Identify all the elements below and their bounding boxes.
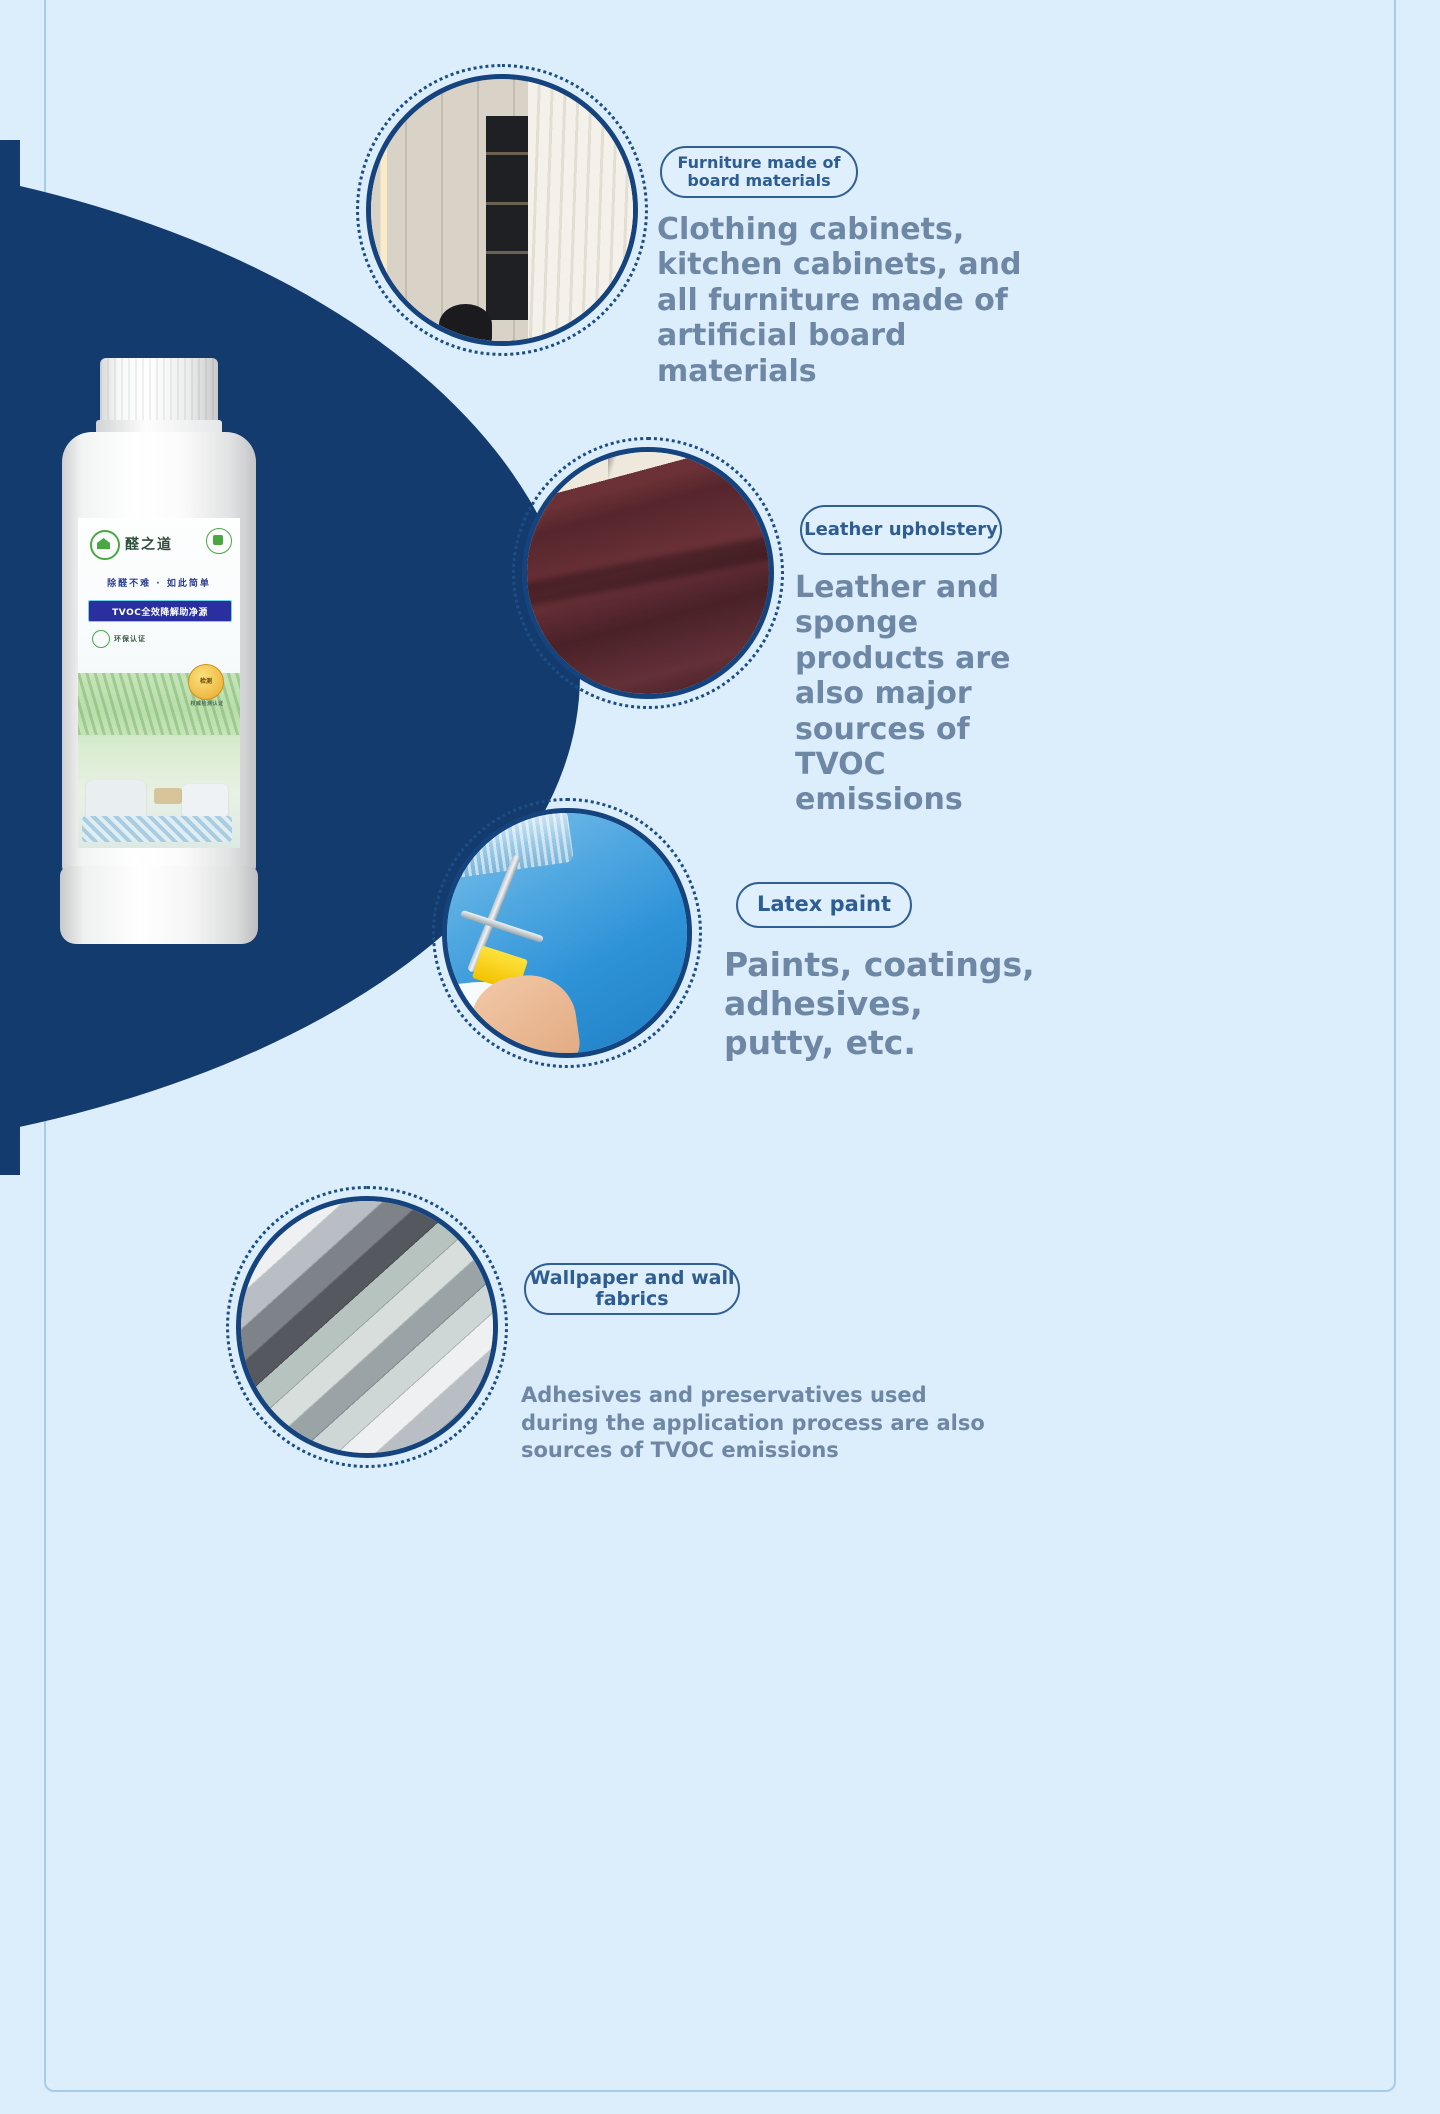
photo-board-furniture — [366, 74, 638, 346]
badge-latex-paint: Latex paint — [736, 882, 912, 928]
badge-board-furniture: Furniture made of board materials — [660, 146, 858, 198]
armchair-shape — [182, 784, 228, 818]
rug-shape — [82, 816, 232, 842]
bottle-label: 醛之道 除醛不难 · 如此简单 TVOC全效降解助净源 环保认证 检测 权威检测… — [78, 518, 240, 848]
product-bottle: 醛之道 除醛不难 · 如此简单 TVOC全效降解助净源 环保认证 检测 权威检测… — [60, 358, 260, 948]
table-shape — [154, 788, 182, 804]
text-latex-paint: Paints, coatings, adhesives, putty, etc. — [724, 946, 1044, 1063]
quality-seal: 检测 — [188, 664, 224, 700]
sofa-shape — [86, 780, 146, 818]
product-slogan: 除醛不难 · 如此简单 — [78, 576, 240, 589]
certification-icon — [206, 528, 232, 554]
photo-latex-paint — [442, 808, 692, 1058]
house-icon — [90, 530, 120, 560]
section-wallpaper: Wallpaper and wall fabrics Adhesives and… — [0, 0, 262, 262]
photo-wallpaper-swatches — [236, 1196, 498, 1458]
brand-name: 醛之道 — [125, 538, 173, 552]
leaf-icon — [92, 630, 110, 648]
badge-wallpaper: Wallpaper and wall fabrics — [524, 1263, 740, 1315]
photo-leather-sofa — [522, 447, 774, 699]
bottle-base — [60, 866, 258, 944]
text-wallpaper: Adhesives and preservatives used during … — [521, 1382, 1001, 1465]
quality-seal-caption: 权威检测认证 — [182, 700, 232, 707]
eco-certification: 环保认证 — [92, 630, 146, 648]
product-banner: TVOC全效降解助净源 — [88, 600, 232, 622]
text-board-furniture: Clothing cabinets, kitchen cabinets, and… — [657, 212, 1047, 389]
eco-label: 环保认证 — [114, 634, 146, 644]
bottle-cap — [100, 358, 218, 426]
text-leather-upholstery: Leather and sponge products are also maj… — [795, 570, 1053, 818]
badge-leather-upholstery: Leather upholstery — [800, 505, 1002, 555]
